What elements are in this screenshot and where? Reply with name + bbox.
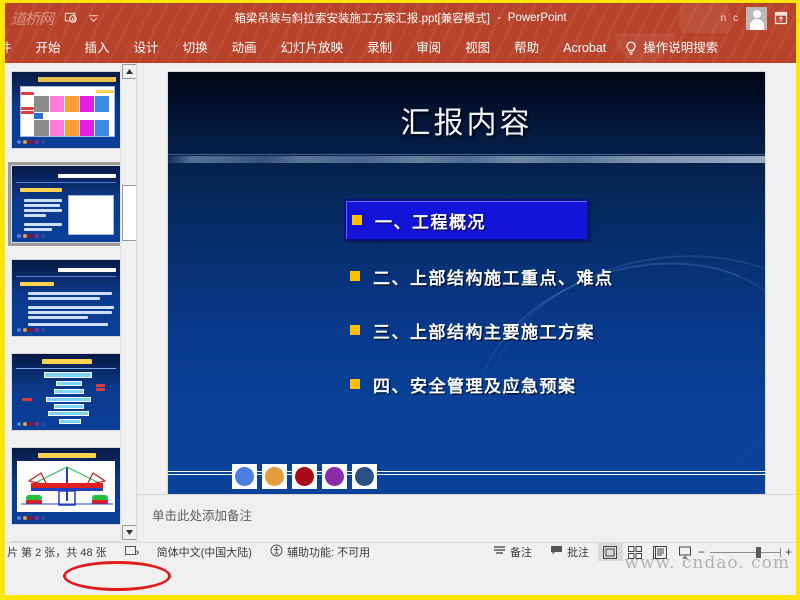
decoration-circle-5 [352, 464, 377, 489]
annotation-red-ellipse [63, 561, 171, 591]
slide-thumbnail-icon[interactable] [116, 546, 148, 558]
thumb-decoration-dots [17, 234, 45, 238]
ribbon-tab-bar: 件 开始 插入 设计 切换 动画 幻灯片放映 录制 审阅 视图 帮助 Acrob… [5, 33, 796, 63]
avatar[interactable] [746, 7, 767, 30]
slide-bullet-list[interactable]: 一、工程概况 二、上部结构施工重点、难点 三、上部结构主要施工方案 四、安全管理… [168, 199, 765, 416]
decoration-circle-2 [262, 464, 287, 489]
tab-home[interactable]: 开始 [24, 33, 73, 63]
view-reading-button[interactable] [648, 543, 673, 562]
zoom-in-button[interactable]: + [785, 546, 792, 558]
decoration-circle-3 [292, 464, 317, 489]
accessibility-indicator[interactable]: 辅助功能: 不可用 [261, 544, 379, 560]
bullet-label: 一、工程概况 [375, 208, 486, 233]
zoom-slider-tick [780, 548, 781, 557]
view-slideshow-button[interactable] [673, 543, 698, 562]
bullet-label: 三、上部结构主要施工方案 [373, 318, 595, 343]
comments-label: 批注 [567, 544, 589, 560]
list-item[interactable] [11, 447, 121, 525]
tab-design[interactable]: 设计 [122, 33, 171, 63]
thumb-decoration-dots [17, 328, 45, 332]
tab-record[interactable]: 录制 [355, 33, 404, 63]
tab-transitions[interactable]: 切换 [171, 33, 220, 63]
notes-toggle-button[interactable]: 备注 [484, 544, 541, 560]
bullet-label: 四、安全管理及应急预案 [373, 372, 577, 397]
zoom-control[interactable]: − + [698, 546, 796, 558]
language-indicator[interactable]: 简体中文(中国大陆) [148, 544, 261, 560]
scroll-up-arrow-icon[interactable] [122, 64, 136, 79]
accessibility-label: 辅助功能: 不可用 [287, 544, 370, 560]
reading-view-icon [653, 546, 667, 559]
bullet-label: 二、上部结构施工重点、难点 [373, 264, 614, 289]
title-bar-right: n c [721, 3, 792, 33]
list-item[interactable] [11, 353, 121, 431]
slide-thumbnail-list [5, 63, 136, 542]
tab-file[interactable]: 件 [5, 33, 24, 63]
language-label: 简体中文(中国大陆) [157, 544, 252, 560]
tell-me-label[interactable]: 操作说明搜索 [643, 33, 718, 63]
window-title: 箱梁吊装与斜拉索安装施工方案汇报.ppt[兼容模式] - PowerPoint [5, 3, 796, 33]
tell-me-search[interactable]: 操作说明搜索 [624, 33, 718, 63]
notes-icon [493, 545, 506, 559]
list-item[interactable] [11, 259, 121, 337]
decoration-circle-4 [322, 464, 347, 489]
tab-animations[interactable]: 动画 [220, 33, 269, 63]
thumb-decoration-dots [17, 516, 45, 520]
tab-acrobat[interactable]: Acrobat [551, 33, 618, 63]
accessibility-icon [270, 544, 283, 560]
title-bar: 道桥网 箱梁吊装与斜拉索安装施工方案汇报.ppt[兼容模式] - PowerPo… [5, 3, 796, 33]
title-separator: - [497, 12, 501, 24]
view-normal-button[interactable] [598, 543, 623, 562]
lightbulb-icon [624, 41, 638, 56]
bullet-square-icon [350, 271, 360, 281]
zoom-out-button[interactable]: − [698, 546, 705, 558]
tab-help[interactable]: 帮助 [502, 33, 551, 63]
ribbon-display-options-icon[interactable] [773, 10, 789, 26]
view-slide-sorter-button[interactable] [623, 543, 648, 562]
bullet-square-icon [352, 215, 362, 225]
slideshow-icon [678, 546, 692, 559]
comments-toggle-button[interactable]: 批注 [541, 544, 598, 560]
slide-sorter-icon [628, 546, 642, 559]
bullet-square-icon [350, 325, 360, 335]
slide-decoration-circles [232, 464, 377, 489]
slide-thumbnail-pane[interactable] [5, 63, 136, 542]
tab-insert[interactable]: 插入 [73, 33, 122, 63]
slide-counter-label: 片 第 2 张，共 48 张 [7, 544, 107, 560]
scrollbar-thumb[interactable] [122, 185, 136, 241]
status-bar: 片 第 2 张，共 48 张 简体中文(中国大陆) 辅助功能: 不可用 备注 批… [5, 542, 796, 561]
thumbnail-scrollbar[interactable] [120, 63, 136, 542]
work-area: 汇报内容 一、工程概况 二、上部结构施工重点、难点 三、上部结构主要施工方案 [5, 63, 796, 542]
scroll-down-arrow-icon[interactable] [122, 525, 136, 540]
bullet-square-icon [350, 379, 360, 389]
bullet-item-2[interactable]: 二、上部结构施工重点、难点 [168, 254, 765, 298]
tab-review[interactable]: 审阅 [404, 33, 453, 63]
app-name: PowerPoint [508, 12, 567, 24]
notes-label: 备注 [510, 544, 532, 560]
bullet-item-1[interactable]: 一、工程概况 [344, 199, 589, 241]
slide-title[interactable]: 汇报内容 [168, 98, 765, 142]
tab-slideshow[interactable]: 幻灯片放映 [269, 33, 356, 63]
title-underline-band [168, 156, 765, 163]
zoom-slider-handle[interactable] [756, 547, 761, 558]
normal-view-icon [603, 546, 617, 559]
list-item[interactable] [11, 165, 121, 243]
current-slide[interactable]: 汇报内容 一、工程概况 二、上部结构施工重点、难点 三、上部结构主要施工方案 [168, 72, 765, 527]
bullet-item-4[interactable]: 四、安全管理及应急预案 [168, 362, 765, 406]
powerpoint-window: 道桥网 箱梁吊装与斜拉索安装施工方案汇报.ppt[兼容模式] - PowerPo… [0, 0, 800, 600]
account-name[interactable]: n c [721, 13, 740, 24]
list-item[interactable] [11, 71, 121, 149]
thumb-decoration-dots [17, 140, 45, 144]
comments-icon [550, 545, 563, 559]
slide-counter[interactable]: 片 第 2 张，共 48 张 [5, 544, 116, 560]
decoration-circle-1 [232, 464, 257, 489]
tab-view[interactable]: 视图 [453, 33, 502, 63]
bullet-item-3[interactable]: 三、上部结构主要施工方案 [168, 308, 765, 352]
document-title: 箱梁吊装与斜拉索安装施工方案汇报.ppt[兼容模式] [234, 10, 490, 26]
zoom-slider[interactable] [710, 552, 780, 553]
thumb-decoration-dots [17, 422, 45, 426]
notes-pane[interactable]: 单击此处添加备注 [137, 494, 796, 542]
notes-placeholder[interactable]: 单击此处添加备注 [152, 505, 796, 524]
slide-editing-pane[interactable]: 汇报内容 一、工程概况 二、上部结构施工重点、难点 三、上部结构主要施工方案 [137, 63, 796, 542]
